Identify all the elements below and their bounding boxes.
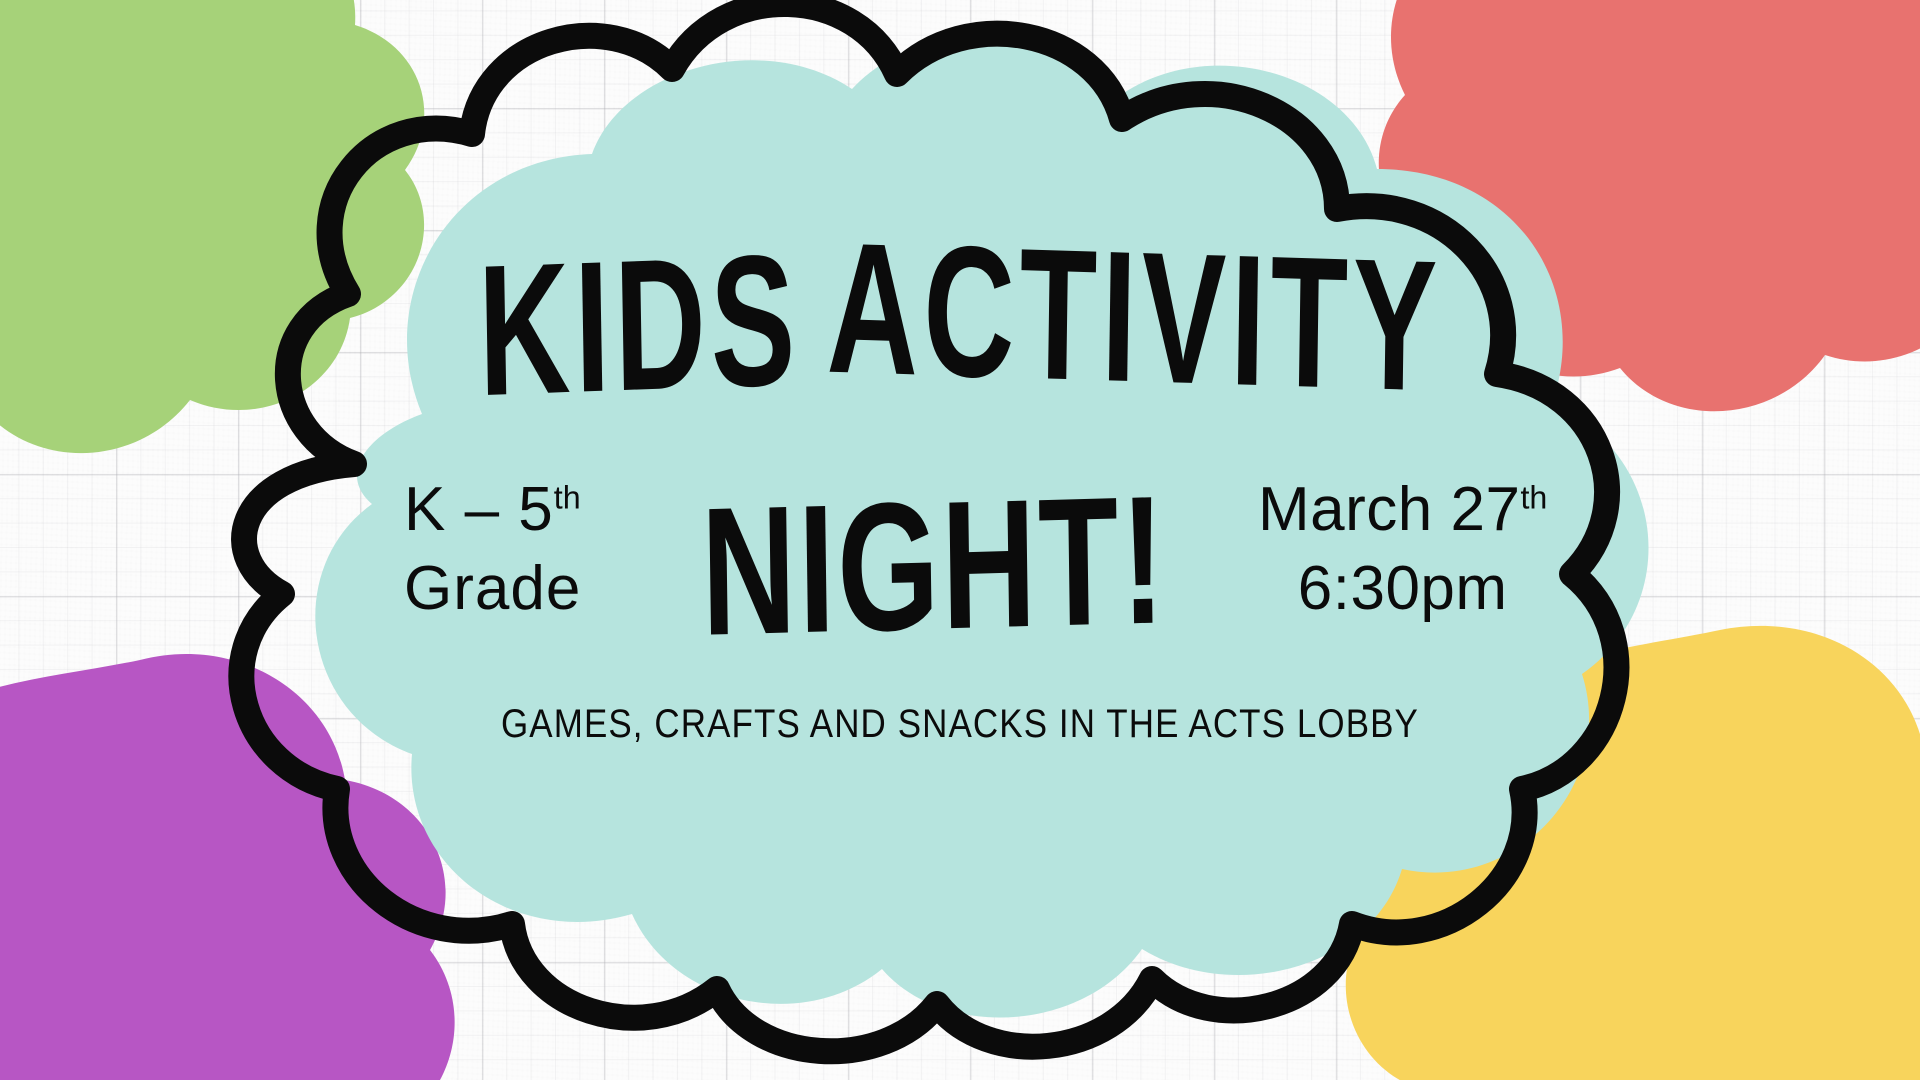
- poster-canvas: KIDSACTIVITY NIGHT! K – 5th Grade March …: [0, 0, 1920, 1080]
- speech-bubble-mint-fill: [315, 35, 1648, 1017]
- speech-bubble-cloud: [122, 0, 1822, 1080]
